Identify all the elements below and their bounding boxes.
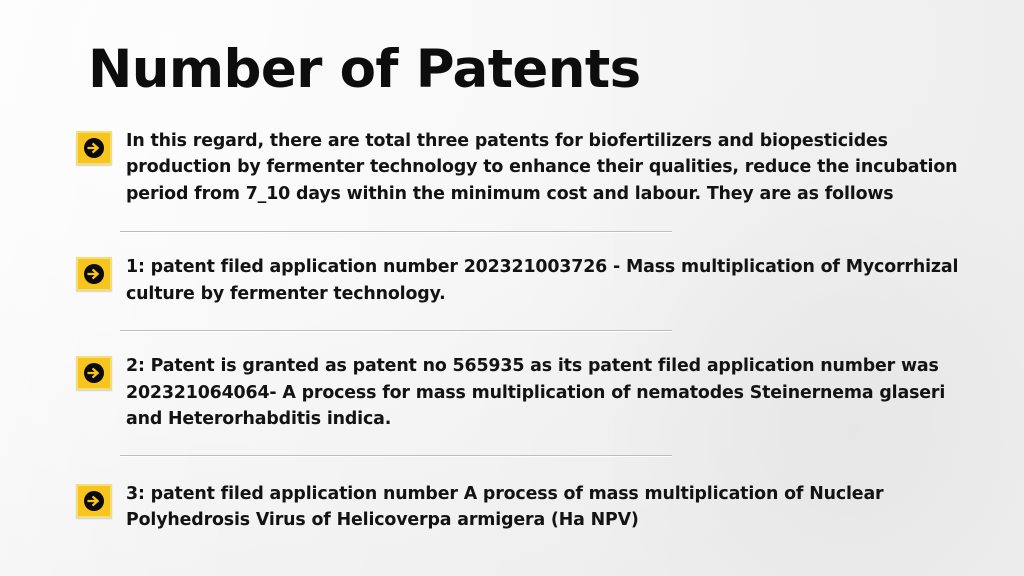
circle-arrow-right-icon: [76, 356, 112, 390]
page-title: Number of Patents: [88, 42, 641, 98]
bullet-block-list: In this regard, there are total three pa…: [76, 128, 976, 534]
list-item: 2: Patent is granted as patent no 565935…: [76, 353, 976, 432]
list-item: 3: patent filed application number A pro…: [76, 481, 976, 534]
list-item: In this regard, there are total three pa…: [76, 128, 976, 207]
list-item-text: 1: patent filed application number 20232…: [126, 254, 970, 307]
list-item-text: 3: patent filed application number A pro…: [126, 481, 970, 534]
list-item-text: 2: Patent is granted as patent no 565935…: [126, 353, 970, 432]
slide-canvas: Number of Patents In this regard, there …: [0, 0, 1024, 576]
circle-arrow-right-icon: [76, 484, 112, 518]
list-item: 1: patent filed application number 20232…: [76, 254, 976, 307]
circle-arrow-right-icon: [76, 257, 112, 291]
list-item-text: In this regard, there are total three pa…: [126, 128, 970, 207]
circle-arrow-right-icon: [76, 131, 112, 165]
